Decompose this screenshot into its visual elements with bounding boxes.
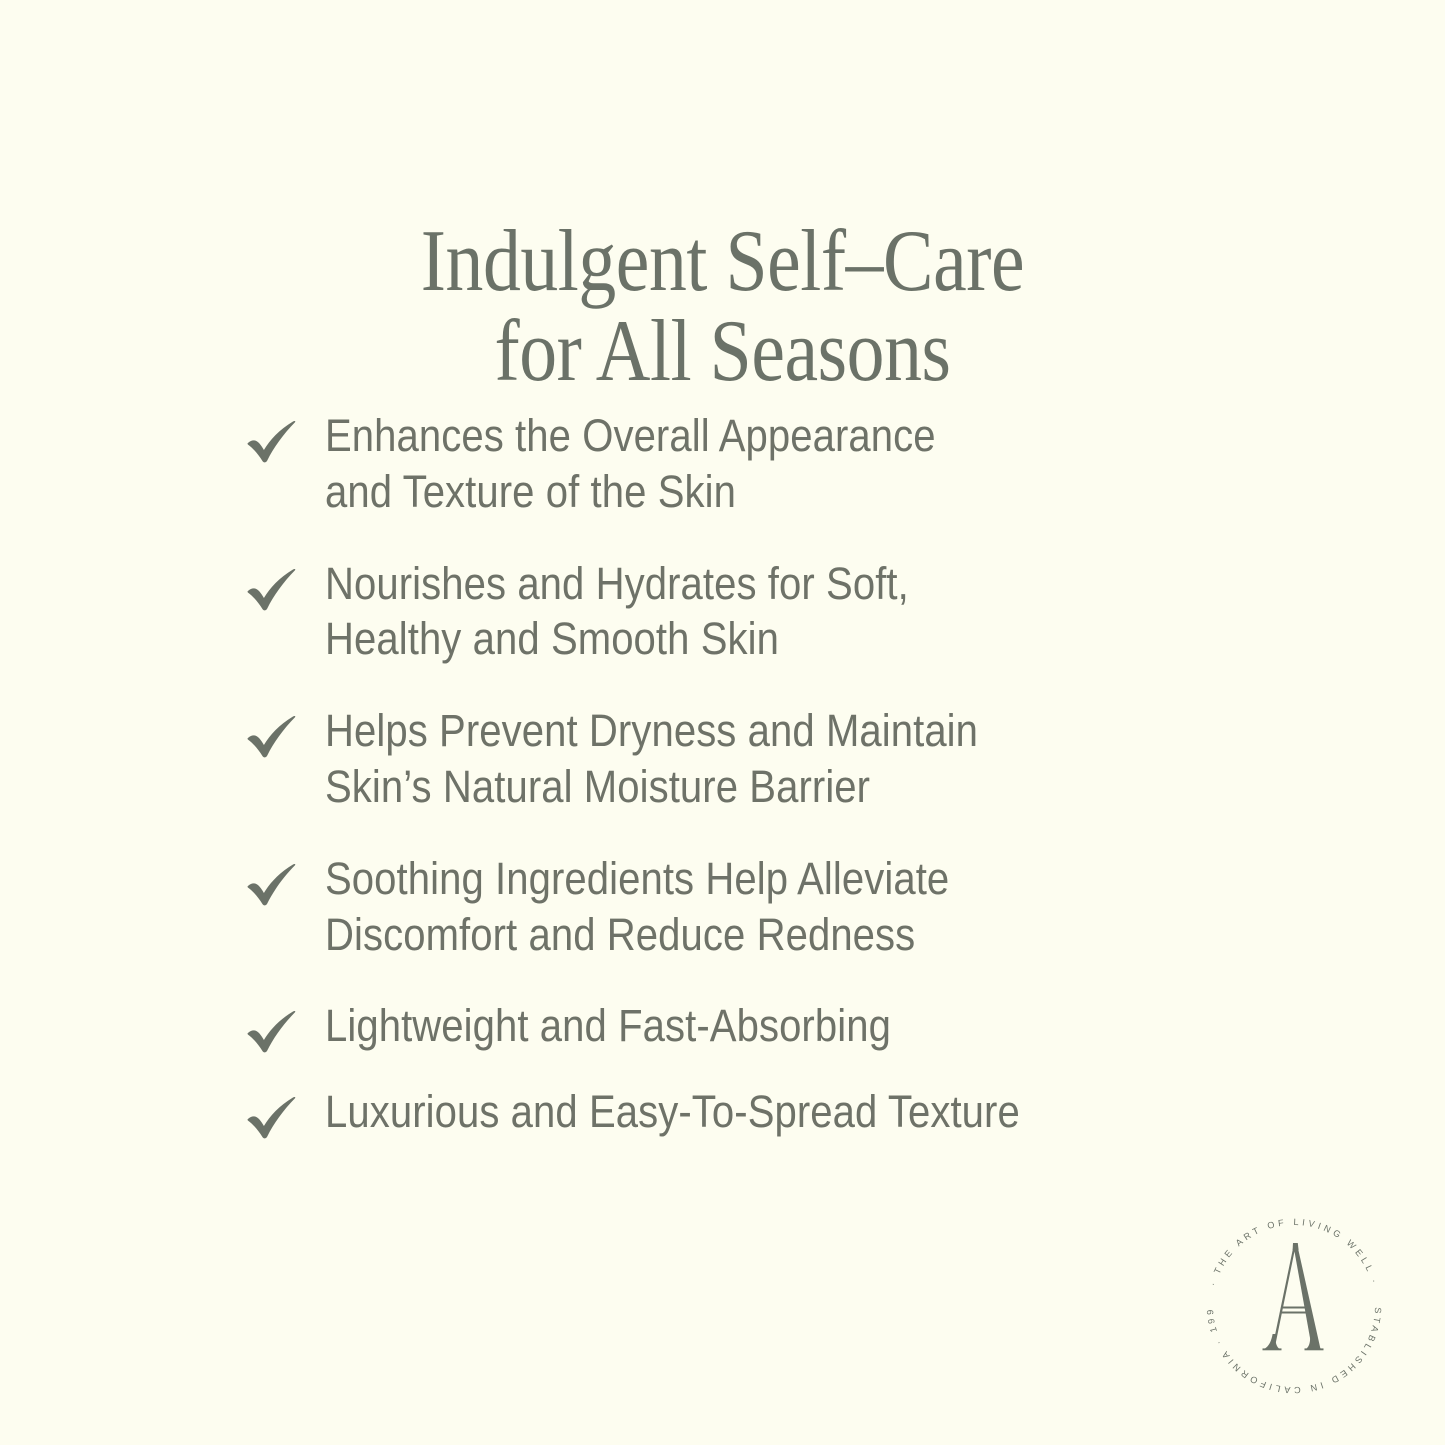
checkmark-icon [245,713,299,761]
marketing-poster: Indulgent Self–Care for All Seasons Enha… [0,0,1445,1445]
list-item: Nourishes and Hydrates for Soft, Healthy… [243,556,1253,668]
seal-ring-bottom-label: ESTABLISHED IN CALIFORNIA · 1998 [1196,1208,1383,1395]
list-item: Enhances the Overall Appearance and Text… [243,408,1253,520]
checkmark-icon [245,1008,299,1056]
list-item: Soothing Ingredients Help Alleviate Disc… [243,851,1253,963]
seal-ring-text-bottom: ESTABLISHED IN CALIFORNIA · 1998 [1196,1208,1383,1395]
list-item: Helps Prevent Dryness and Maintain Skin’… [243,703,1253,815]
list-item-label: Lightweight and Fast-Absorbing [325,998,1151,1054]
checkmark-icon [245,566,299,614]
list-item-label: Luxurious and Easy-To-Spread Texture [325,1084,1151,1140]
seal-monogram [1263,1243,1324,1350]
list-item-label: Helps Prevent Dryness and Maintain Skin’… [325,703,1151,815]
list-item: Lightweight and Fast-Absorbing [243,998,1253,1054]
checkmark-icon [245,1094,299,1142]
list-item-label: Nourishes and Hydrates for Soft, Healthy… [325,556,1151,668]
brand-seal-badge: · THE ART OF LIVING WELL · ESTABLISHED I… [1196,1208,1392,1404]
list-item: Luxurious and Easy-To-Spread Texture [243,1084,1253,1140]
checkmark-icon [245,861,299,909]
list-item-label: Soothing Ingredients Help Alleviate Disc… [325,851,1151,963]
list-item-label: Enhances the Overall Appearance and Text… [325,408,1151,520]
page-title-line-2: for All Seasons [101,307,1344,397]
benefits-list: Enhances the Overall Appearance and Text… [243,408,1253,1170]
page-title: Indulgent Self–Care for All Seasons [101,217,1344,397]
page-title-line-1: Indulgent Self–Care [101,217,1344,307]
checkmark-icon [245,418,299,466]
